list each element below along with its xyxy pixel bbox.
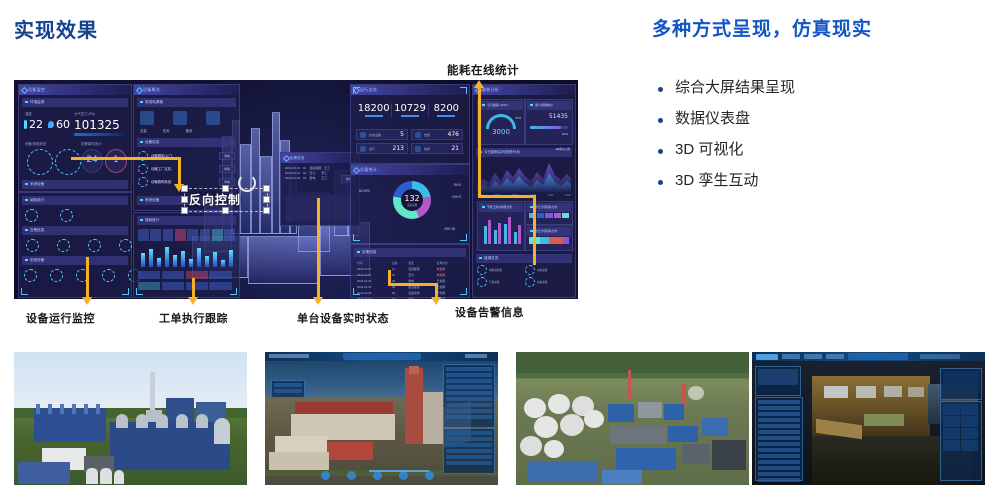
arrow-v-3 bbox=[192, 278, 195, 299]
alarm-icon-4[interactable] bbox=[119, 239, 132, 252]
row-detail-button[interactable]: 详情 bbox=[219, 165, 235, 173]
bullet-label: 3D 孪生互动 bbox=[675, 171, 758, 191]
panel-running-summary[interactable]: 运行总览 18200 10729 8200 在线设备 5 bbox=[350, 84, 470, 164]
summary-value-2: 10729 bbox=[392, 103, 427, 114]
bullet-label: 综合大屏结果呈现 bbox=[675, 78, 795, 98]
metric-value: 476 bbox=[448, 131, 459, 138]
row-icon bbox=[138, 177, 148, 187]
donut-legend-4: 25% 38 bbox=[444, 227, 455, 231]
dashboard-screenshot: 设备监控 环境监测 温度 22 60 大气压力 (Pa) 101325 设备/设… bbox=[14, 80, 578, 299]
card-icon-spare[interactable] bbox=[206, 111, 220, 125]
row-detail-button[interactable]: 详情 bbox=[219, 152, 235, 160]
energy-item[interactable]: 电能总耗量 bbox=[477, 265, 523, 275]
sub-header-environment: 环境监测 bbox=[22, 98, 128, 107]
model-info-popup[interactable]: 告警信息 2024-02-01 01 温度超限 王工 2024-02-01 02… bbox=[280, 152, 360, 226]
resize-handle-ml[interactable] bbox=[181, 196, 188, 203]
card-label-total: 总量 bbox=[140, 128, 147, 133]
donut-legend-2: 5% 5 bbox=[454, 183, 461, 187]
device-icon-2[interactable] bbox=[60, 209, 73, 222]
gallery-image-indoor-platform[interactable] bbox=[752, 352, 985, 485]
row-icon bbox=[138, 164, 148, 174]
alarm-table: 时间 设备 类型 处理状态 2024-02-0101 温度超限未处理 2024-… bbox=[356, 260, 464, 299]
pressure-label: 大气压力 (Pa) bbox=[74, 111, 95, 116]
page-title: 实现效果 bbox=[14, 14, 98, 43]
summary-value-1: 18200 bbox=[356, 103, 391, 114]
panel-alarm-table[interactable]: 告警信息 时间 设备 类型 处理状态 2024-02-0101 温度超限未处理 … bbox=[350, 244, 470, 298]
gauge-section-label: 设备/设施状态 bbox=[25, 141, 46, 146]
twin-right-panel-2[interactable] bbox=[443, 428, 495, 474]
energy-bar-card[interactable]: 节能正常总电量分析 bbox=[477, 201, 525, 251]
panel-header-label: 设备概览 bbox=[134, 85, 239, 95]
energy-summary-list: 电能总耗量 水耗总量 气耗总量 热耗总量 bbox=[477, 265, 571, 287]
rotate-handle-icon[interactable] bbox=[238, 174, 256, 192]
resize-handle-tl[interactable] bbox=[181, 185, 188, 192]
toolbar-icon-3[interactable] bbox=[373, 471, 382, 480]
row-label: 动输照明系统 bbox=[151, 179, 171, 184]
metric-label: 在线设备 bbox=[369, 133, 381, 137]
donut-legend-1: 60 40% bbox=[359, 189, 370, 193]
metric-tile[interactable]: 告警 476 bbox=[411, 129, 463, 140]
indoor-right-map-panel[interactable] bbox=[940, 368, 982, 400]
panel-equipment-monitor[interactable]: 设备监控 环境监测 温度 22 60 大气压力 (Pa) 101325 设备/设… bbox=[18, 84, 132, 192]
arrow-h-6 bbox=[478, 195, 536, 198]
energy-item[interactable]: 水耗总量 bbox=[525, 265, 571, 275]
resize-handle-mr[interactable] bbox=[263, 196, 270, 203]
alarm-icon-1[interactable] bbox=[26, 239, 39, 252]
energy-gauge-card[interactable]: 今日能耗 (kWh) 3000 75% bbox=[477, 99, 525, 145]
gallery-image-refinery[interactable] bbox=[516, 352, 749, 485]
arrow-head-2 bbox=[82, 297, 92, 305]
list-item: 综合大屏结果呈现 bbox=[652, 78, 992, 98]
panel-header-label: 运行总览 bbox=[351, 85, 469, 95]
arrow-h-1 bbox=[71, 157, 181, 160]
panel-total-statistics[interactable]: 总量统计 132 设备总数 60 40% 5% 5 10% 9 25% 38 bbox=[350, 164, 470, 244]
alarm-icon-3[interactable] bbox=[88, 239, 101, 252]
sub-header-system-2: 系统设备 bbox=[22, 256, 128, 265]
label-workorder-tracking: 工单执行跟踪 bbox=[159, 310, 228, 326]
toolbar-icon-1[interactable] bbox=[321, 471, 330, 480]
grouped-bar-chart bbox=[482, 214, 522, 244]
metric-tile[interactable]: 运行 213 bbox=[356, 143, 408, 154]
mini-bar-chart bbox=[138, 245, 235, 267]
sys-icon-2[interactable] bbox=[50, 269, 63, 282]
meter-value: 51435 bbox=[549, 113, 568, 120]
arrow-head-5 bbox=[431, 297, 441, 305]
gauge-pct: 75% bbox=[515, 116, 521, 120]
twin-right-panel[interactable] bbox=[443, 364, 495, 428]
metric-tile[interactable]: 在线设备 5 bbox=[356, 129, 408, 140]
sys-icon-1[interactable] bbox=[24, 269, 37, 282]
arrow-head-4 bbox=[313, 297, 323, 305]
device-row[interactable]: 动输照明 A 门 详情 动输工厂区机 详情 动输照明系统 详情 bbox=[138, 149, 235, 188]
bullet-dot-icon bbox=[658, 180, 663, 185]
card-label-inuse: 在用 bbox=[163, 128, 170, 133]
arrow-v-1 bbox=[178, 157, 181, 185]
metric-label: 运行 bbox=[369, 147, 375, 151]
donut-legend-3: 10% 9 bbox=[452, 195, 461, 199]
panel-energy-analysis[interactable]: 能耗分析 今日能耗 (kWh) 3000 75% 累计用量统计 51435 81… bbox=[472, 84, 576, 298]
metric-label: 告警 bbox=[424, 133, 430, 137]
bullet-label: 3D 可视化 bbox=[675, 140, 743, 160]
toolbar-icon-5[interactable] bbox=[425, 471, 434, 480]
metric-tile[interactable]: 检修 21 bbox=[411, 143, 463, 154]
arrow-head-3 bbox=[188, 297, 198, 305]
resize-handle-bc[interactable] bbox=[222, 207, 229, 214]
resize-handle-tc[interactable] bbox=[222, 185, 229, 192]
sub-header-energy: 能耗统计 bbox=[22, 196, 128, 205]
donut-chart: 132 设备总数 bbox=[393, 181, 431, 219]
label-alarm-info: 设备告警信息 bbox=[455, 304, 524, 320]
meter-bar-track bbox=[530, 126, 568, 129]
indoor-left-panel-top[interactable] bbox=[755, 366, 801, 396]
indoor-left-panel-list[interactable] bbox=[755, 397, 803, 481]
meter-pct: 81% bbox=[562, 132, 568, 136]
energy-item[interactable]: 热耗总量 bbox=[525, 277, 571, 287]
arrow-h-5 bbox=[388, 283, 438, 286]
arrow-head-6 bbox=[474, 80, 484, 88]
status-ring-1 bbox=[27, 149, 53, 175]
thermometer-icon bbox=[24, 120, 27, 129]
panel-header-label: 设备监控 bbox=[19, 85, 131, 95]
table-row[interactable]: 2024-02-0306 震动已处理 bbox=[356, 296, 464, 299]
feature-bullet-list: 综合大屏结果呈现 数据仪表盘 3D 可视化 3D 孪生互动 bbox=[652, 78, 992, 202]
callout-energy-stats: 能耗在线统计 bbox=[447, 62, 519, 78]
popup-header: 告警信息 bbox=[281, 153, 359, 163]
sub-header-alarm: 告警信息 bbox=[22, 226, 128, 235]
device-icon-1[interactable] bbox=[25, 209, 38, 222]
sub-header-power-box: 常用电源箱 bbox=[137, 98, 236, 107]
meter-bar-fill bbox=[530, 126, 561, 129]
energy-trend-chart bbox=[477, 159, 571, 193]
toolbar-icon-2[interactable] bbox=[347, 471, 356, 480]
metric-value: 213 bbox=[393, 145, 404, 152]
popup-table bbox=[285, 195, 355, 221]
card-label-spare: 备用 bbox=[186, 128, 193, 133]
alarm-count-b: 1 bbox=[105, 149, 127, 173]
bullet-dot-icon bbox=[658, 149, 663, 154]
sub-header-device-info: 设备信息 bbox=[137, 138, 236, 147]
right-heading: 多种方式呈现，仿真现实 bbox=[652, 14, 872, 41]
card-icon-inuse[interactable] bbox=[173, 111, 187, 125]
panel-header-label: 能耗分析 bbox=[473, 85, 575, 95]
sub-header-system: 系统设备 bbox=[22, 180, 128, 189]
summary-value-3: 8200 bbox=[429, 103, 464, 114]
list-sub-label: 能源总览 bbox=[476, 254, 572, 263]
resize-handle-bl[interactable] bbox=[181, 207, 188, 214]
arrow-v-6 bbox=[478, 88, 481, 198]
label-realtime-status: 单台设备实时状态 bbox=[297, 310, 389, 326]
list-item: 数据仪表盘 bbox=[652, 109, 992, 129]
status-ring-2 bbox=[55, 149, 81, 175]
energy-item[interactable]: 气耗总量 bbox=[477, 277, 523, 287]
metric-value: 5 bbox=[400, 131, 404, 138]
twin-bottom-toolbar[interactable] bbox=[321, 471, 434, 480]
callout-reverse-control: 反向控制 bbox=[189, 191, 241, 208]
metric-label: 检修 bbox=[424, 147, 430, 151]
donut-center-label: 设备总数 bbox=[401, 203, 423, 207]
gallery-image-plant-overview[interactable] bbox=[14, 352, 247, 485]
bullet-label: 数据仪表盘 bbox=[675, 109, 750, 129]
temperature-value: 22 bbox=[29, 118, 43, 131]
arrow-v-6b bbox=[533, 195, 536, 265]
humidity-icon bbox=[48, 121, 54, 128]
gauge-sub-label: 今日能耗 (kWh) bbox=[479, 101, 523, 110]
label-device-monitoring: 设备运行监控 bbox=[26, 310, 95, 326]
list-item: 3D 可视化 bbox=[652, 140, 992, 160]
twin-left-tag[interactable] bbox=[271, 380, 305, 398]
energy-meter-card[interactable]: 累计用量统计 51435 81% bbox=[525, 99, 573, 145]
arrow-v-4b bbox=[317, 268, 320, 299]
bullet-dot-icon bbox=[658, 87, 663, 92]
alarm-icon-2[interactable] bbox=[57, 239, 70, 252]
row-label: 动输工厂区机 bbox=[151, 166, 171, 171]
panel-header-label: 总量统计 bbox=[351, 165, 469, 175]
panel-device-matrix[interactable]: 能耗统计 bbox=[133, 212, 240, 298]
sub-header-matrix: 能耗统计 bbox=[137, 216, 236, 225]
arrow-v-4 bbox=[317, 198, 320, 270]
list-item: 3D 孪生互动 bbox=[652, 171, 992, 191]
gauge-value: 3000 bbox=[478, 128, 524, 136]
indoor-right-grid-panel[interactable] bbox=[940, 401, 982, 481]
meter-sub-label: 累计用量统计 bbox=[527, 101, 571, 110]
trend-legend: ■本期 ■上期 bbox=[556, 147, 570, 151]
arrow-v-2 bbox=[86, 257, 89, 299]
alarm-count-a: 24 bbox=[81, 149, 103, 173]
temperature-label: 温度 bbox=[25, 111, 32, 116]
humidity-value: 60 bbox=[56, 118, 70, 131]
panel-system-devices[interactable]: 能耗统计 告警信息 系统设备 bbox=[18, 192, 132, 298]
bullet-dot-icon bbox=[658, 118, 663, 123]
pressure-value: 101325 bbox=[74, 118, 120, 132]
pressure-bar bbox=[74, 133, 124, 136]
card-icon-total[interactable] bbox=[140, 111, 154, 125]
metric-value: 21 bbox=[451, 145, 459, 152]
bar-sub-label: 节能正常总电量分析 bbox=[479, 203, 523, 212]
gauge-arc bbox=[486, 114, 516, 129]
alarm-section-label: 告警事件统计 bbox=[81, 141, 101, 146]
toolbar-icon-4[interactable] bbox=[399, 471, 408, 480]
gallery-image-digital-twin[interactable] bbox=[265, 352, 498, 485]
resize-handle-br[interactable] bbox=[263, 207, 270, 214]
sub-header-alarm-info: 告警信息 bbox=[354, 248, 466, 257]
sys-icon-4[interactable] bbox=[102, 269, 115, 282]
resize-handle-tr[interactable] bbox=[263, 185, 270, 192]
donut-center-value: 132 bbox=[401, 189, 423, 203]
